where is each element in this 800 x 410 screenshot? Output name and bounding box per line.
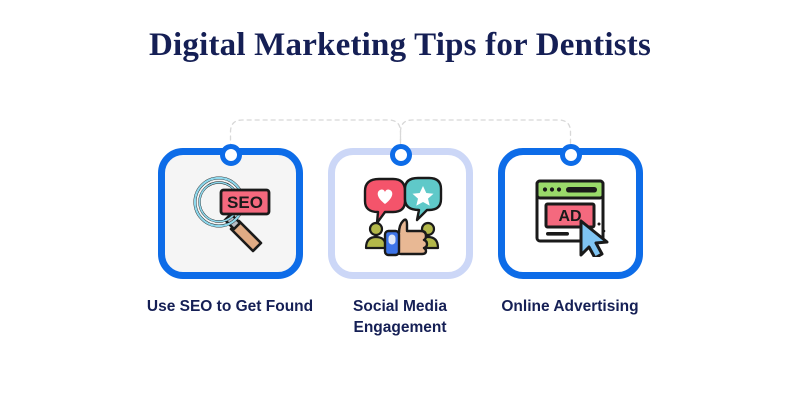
seo-magnifier-icon: SEO xyxy=(185,171,277,257)
ad-banner-text: AD xyxy=(558,208,581,225)
page-title: Digital Marketing Tips for Dentists xyxy=(0,27,800,64)
card-labels: Use SEO to Get Found Social Media Engage… xyxy=(0,296,800,356)
connector-card1-card2 xyxy=(231,120,401,148)
node-dot-icon-card-2 xyxy=(390,144,412,166)
card-label-online-advertising: Online Advertising xyxy=(475,296,665,317)
infographic-canvas: Digital Marketing Tips for Dentists xyxy=(0,0,800,410)
card-label-social-media-engagement: Social Media Engagement xyxy=(305,296,495,338)
card-online-advertising[interactable]: AD xyxy=(498,148,643,279)
connector-card2-card3 xyxy=(401,120,571,148)
card-label-use-seo-to-get-found: Use SEO to Get Found xyxy=(135,296,325,317)
card-use-seo-to-get-found[interactable]: SEO xyxy=(158,148,303,279)
cards-row: SEO xyxy=(0,148,800,283)
node-dot-icon-card-3 xyxy=(560,144,582,166)
social-engagement-icon xyxy=(355,171,447,257)
online-ad-browser-icon: AD xyxy=(525,171,617,257)
seo-plate-text: SEO xyxy=(227,193,263,212)
node-dot-icon-card-1 xyxy=(220,144,242,166)
card-social-media-engagement[interactable] xyxy=(328,148,473,279)
